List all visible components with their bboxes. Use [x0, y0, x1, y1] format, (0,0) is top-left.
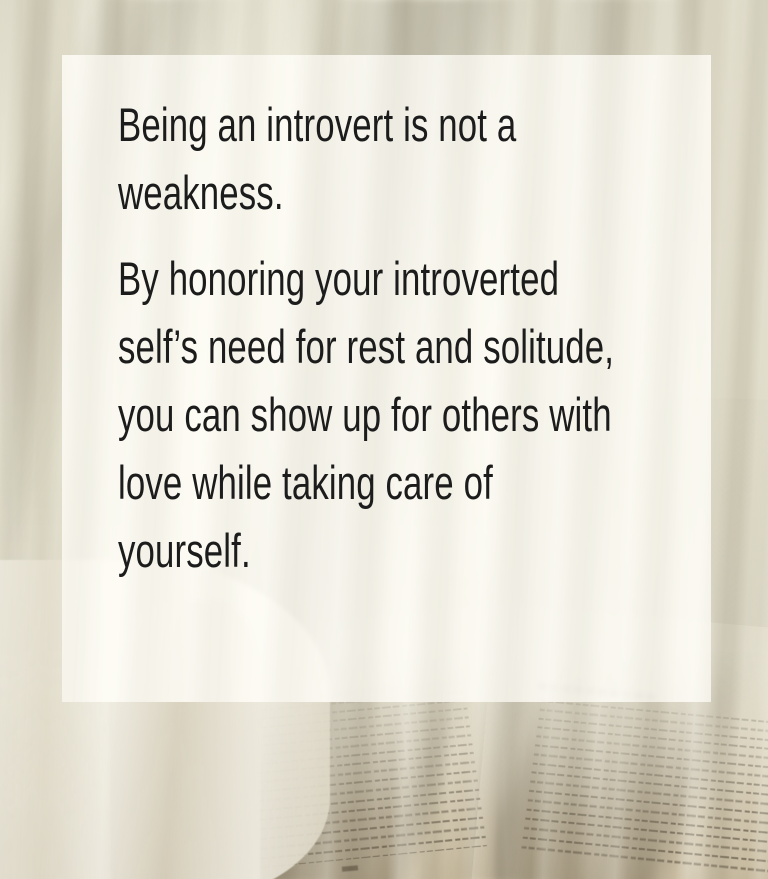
quote-line: love while taking care of: [118, 449, 538, 517]
quote-line: By honoring your introverted: [118, 245, 538, 313]
quote-overlay-panel: Being an introvert is not a weakness. By…: [62, 55, 711, 702]
quote-card-image: Being an introvert is not a weakness. By…: [0, 0, 768, 879]
paragraph-spacer: [118, 227, 685, 245]
quote-line: self’s need for rest and solitude,: [118, 313, 538, 381]
quote-line: you can show up for others with: [118, 381, 538, 449]
quote-line: weakness.: [118, 159, 538, 227]
quote-line: yourself.: [118, 517, 538, 585]
quote-text-block: Being an introvert is not a weakness. By…: [118, 91, 685, 585]
quote-line: Being an introvert is not a: [118, 91, 538, 159]
